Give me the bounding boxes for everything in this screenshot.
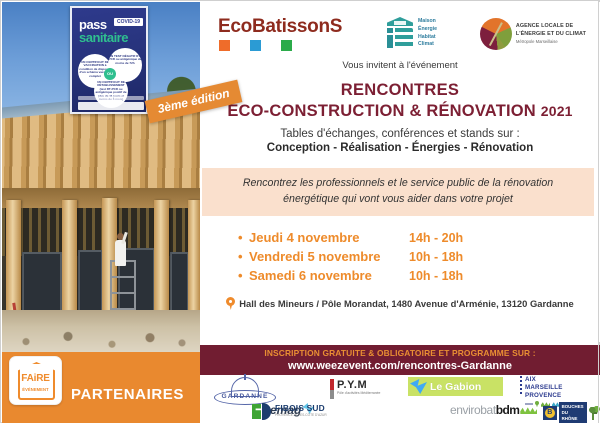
event-title: RENCONTRES ÉCO-CONSTRUCTION & RÉNOVATION… (200, 81, 600, 121)
gardanne-wordmark: GARDANNE (214, 393, 276, 400)
bdr-monogram: B (545, 408, 555, 418)
square-orange-icon (219, 40, 230, 51)
date-row: • Jeudi 4 novembre 14h - 20h (238, 230, 600, 245)
alec-line-1: AGENCE LOCALE DE (516, 23, 586, 31)
faire-subtitle: ÉVÉNEMENT (10, 387, 61, 392)
pym-bar-icon (330, 379, 334, 399)
le-gabion-logo: Le Gabion (408, 377, 503, 396)
fibois-subtitle: PROVENCE-ALPES-CÔTE D'AZUR (275, 413, 327, 417)
highlight-callout: Rencontrez les professionnels et le serv… (202, 168, 594, 216)
alec-text-block: AGENCE LOCALE DE L'ÉNERGIE ET DU CLIMAT … (516, 23, 586, 45)
date-time: 10h - 18h (409, 250, 463, 264)
timber-post (62, 200, 77, 328)
ecobatissons-wordmark: EcoBatissonS (218, 16, 342, 38)
window-frame (22, 252, 62, 314)
le-gabion-wordmark: Le Gabion (430, 381, 481, 393)
faire-logo: FAiRE ÉVÉNEMENT (9, 356, 62, 405)
alec-logo: AGENCE LOCALE DE L'ÉNERGIE ET DU CLIMAT … (480, 18, 586, 50)
date-day: Vendredi 5 novembre (249, 249, 409, 264)
bar-icon (387, 28, 393, 33)
alec-pie-icon (480, 18, 512, 50)
bdr-line-2: DU RHÔNE (562, 410, 585, 422)
bullet-icon: • (238, 250, 249, 263)
partners-heading: PARTENAIRES (71, 386, 184, 403)
dotted-line-icon (520, 376, 522, 394)
fibois-leaf-icon (262, 403, 271, 420)
date-row: • Vendredi 5 novembre 10h - 18h (238, 249, 600, 264)
fibois-wordmark: FIBOIS SUD (275, 403, 327, 413)
bullet-icon: • (238, 231, 249, 244)
map-pin-icon (535, 401, 539, 407)
right-border-edge (598, 1, 599, 423)
window-frame (78, 250, 103, 314)
amp-line-2: MARSEILLE (525, 384, 563, 392)
subtitle-themes-intro: Tables d'échanges, conférences et stands… (200, 128, 600, 140)
date-day: Samedi 6 novembre (249, 268, 409, 283)
envirobat-wordmark: envirobat (450, 403, 496, 417)
mehc-line-4: Climat (418, 41, 437, 49)
location-pin-icon (226, 297, 235, 310)
invitation-text: Vous invitent à l'événement (200, 60, 600, 71)
bar-icon (387, 35, 393, 48)
amp-line-3: PROVENCE (525, 392, 563, 400)
mehc-line-2: Énergie (418, 26, 437, 34)
pass-logo-bar (78, 102, 144, 110)
main-content: EcoBatissonS Maison Énergie Habit (200, 2, 600, 342)
alec-line-2: L'ÉNERGIE ET DU CLIMAT (516, 31, 586, 39)
mehc-logo: Maison Énergie Habitat Climat (385, 17, 437, 50)
subtitle-themes-list: Conception - Réalisation - Énergies - Ré… (200, 142, 600, 154)
registration-notice: INSCRIPTION GRATUITE & OBLIGATOIRE ET PR… (200, 348, 600, 358)
interior-ceiling-grid (2, 208, 200, 256)
timber-post (154, 200, 169, 328)
venue-address-text: Hall des Mineurs / Pôle Morandat, 1480 A… (239, 298, 573, 309)
window-frame (170, 252, 189, 312)
square-green-icon (281, 40, 292, 51)
title-line-2: ÉCO-CONSTRUCTION & RÉNOVATION 2021 (200, 102, 600, 121)
gravel-rubble (2, 326, 200, 352)
registration-url[interactable]: www.weezevent.com/rencontres-Gardanne (200, 360, 600, 372)
fibois-mark-icon (252, 403, 271, 420)
book-lines-icon (395, 28, 413, 49)
pass-footer-line (78, 96, 144, 100)
registration-banner: INSCRIPTION GRATUITE & OBLIGATOIRE ET PR… (200, 345, 600, 375)
venue-address: Hall des Mineurs / Pôle Morandat, 1480 A… (200, 297, 600, 310)
mehc-line-1: Maison (418, 18, 437, 26)
pass-title-line2: sanitaire (79, 30, 128, 45)
alec-subtitle: Métropole Marseillaise (516, 39, 586, 44)
covid-tag: COVID-19 (114, 18, 143, 26)
pym-logo: P.Y.M Pôle d'activités Méditerranée (330, 379, 380, 395)
dash-icon (525, 403, 533, 405)
house-book-icon (385, 17, 415, 50)
ground-area (2, 310, 200, 352)
mehc-text-block: Maison Énergie Habitat Climat (418, 18, 437, 49)
title-line-1: RENCONTRES (200, 81, 600, 100)
title-year: 2021 (541, 103, 573, 119)
date-day: Jeudi 4 novembre (249, 230, 409, 245)
organizer-logos-row: EcoBatissonS Maison Énergie Habit (200, 2, 600, 51)
pass-sanitaire-poster: pass COVID-19 sanitaire UN CERTIFICAT DE… (70, 6, 148, 114)
bdr-text-block: BOUCHES DU RHÔNE (559, 402, 588, 423)
construction-worker (115, 240, 126, 266)
amp-line-1: AIX (525, 376, 563, 384)
pass-connector-badge: OU (104, 68, 116, 80)
partner-logos-area: GARDANNE Semag P.Y.M Pôle d'activités Mé… (200, 375, 600, 423)
roof-shape-icon (387, 17, 413, 26)
bouches-du-rhone-logo: B BOUCHES DU RHÔNE (543, 402, 600, 423)
date-time: 14h - 20h (409, 231, 463, 245)
title-line-2-text: ÉCO-CONSTRUCTION & RÉNOVATION (227, 102, 536, 120)
faire-wordmark: FAiRE (10, 373, 61, 384)
pym-wordmark: P.Y.M (337, 379, 380, 391)
ecobatissons-logo: EcoBatissonS (218, 16, 342, 51)
bullet-icon: • (238, 269, 249, 282)
event-poster: pass COVID-19 sanitaire UN CERTIFICAT DE… (0, 0, 600, 423)
green-wave-icon (520, 407, 537, 414)
mehc-line-3: Habitat (418, 34, 437, 42)
ecobatissons-squares (219, 40, 342, 51)
shield-icon: B (543, 406, 557, 420)
fibois-e-icon (252, 404, 261, 419)
bdm-wordmark: bdm (496, 403, 520, 417)
dates-list: • Jeudi 4 novembre 14h - 20h • Vendredi … (238, 230, 600, 283)
square-blue-icon (250, 40, 261, 51)
date-time: 10h - 18h (409, 269, 463, 283)
gabion-swoosh-icon (410, 379, 427, 394)
date-row: • Samedi 6 novembre 10h - 18h (238, 268, 600, 283)
fibois-sud-logo: FIBOIS SUD PROVENCE-ALPES-CÔTE D'AZUR (252, 403, 327, 417)
pym-subtitle: Pôle d'activités Méditerranée (337, 391, 380, 395)
timber-post (188, 200, 200, 328)
